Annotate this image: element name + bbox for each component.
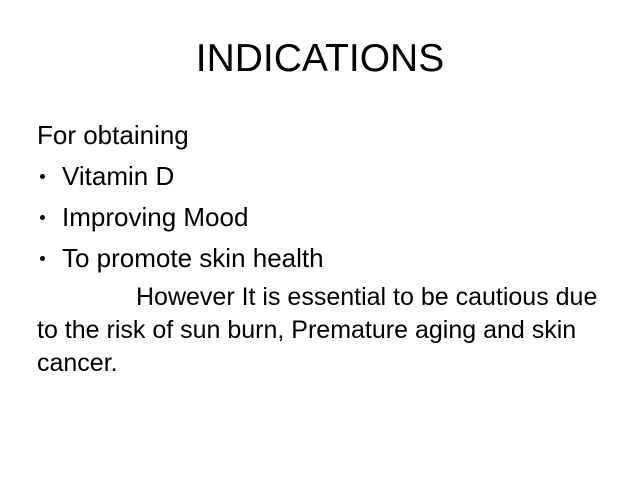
list-item-label: Vitamin D (62, 161, 174, 191)
list-item-label: To promote skin health (62, 243, 324, 273)
list-item-label: Improving Mood (62, 202, 248, 232)
bullet-dot-icon (40, 215, 45, 220)
slide-canvas: INDICATIONS For obtaining Vitamin D Impr… (0, 0, 640, 480)
list-item: Vitamin D (37, 156, 607, 197)
note-paragraph: However It is essential to be cautious d… (37, 281, 603, 380)
page-title: INDICATIONS (0, 36, 640, 82)
slide-body: For obtaining Vitamin D Improving Mood T… (37, 115, 607, 380)
bullet-list: Vitamin D Improving Mood To promote skin… (37, 156, 607, 279)
list-item: To promote skin health (37, 238, 607, 279)
bullet-dot-icon (40, 256, 45, 261)
bullet-dot-icon (40, 174, 45, 179)
list-item: Improving Mood (37, 197, 607, 238)
lead-line: For obtaining (37, 115, 607, 156)
